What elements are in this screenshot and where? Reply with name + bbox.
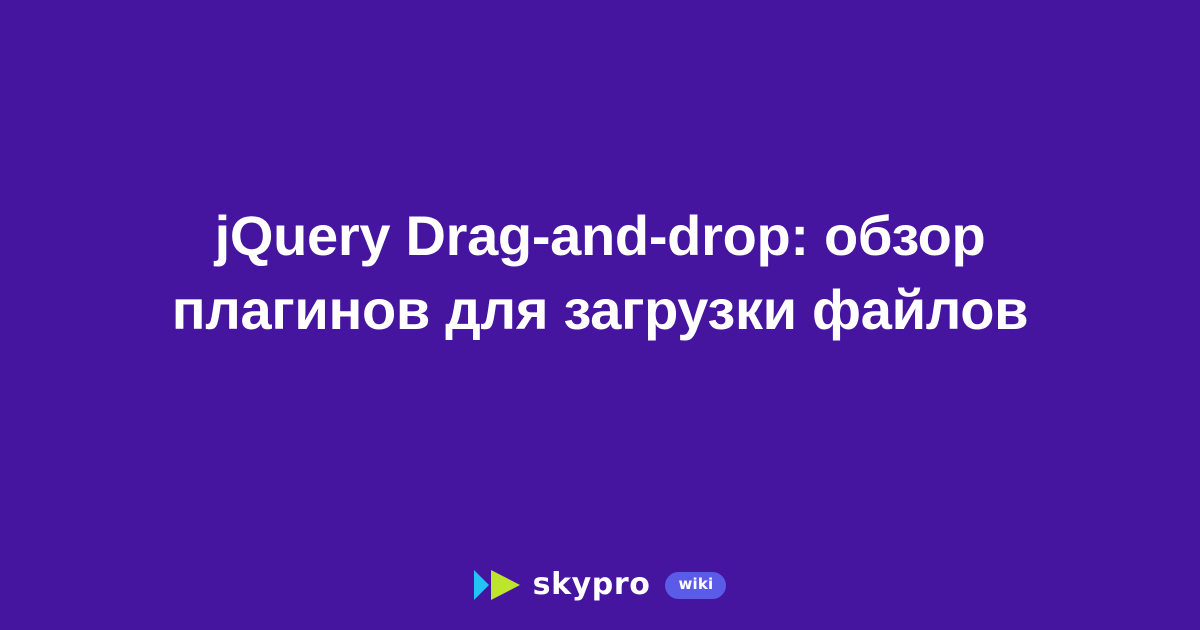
page-title: jQuery Drag-and-drop: обзор плагинов для… <box>135 199 1065 347</box>
title-container: jQuery Drag-and-drop: обзор плагинов для… <box>0 0 1200 545</box>
skypro-wordmark: skypro <box>533 570 651 600</box>
og-image-card: jQuery Drag-and-drop: обзор плагинов для… <box>0 0 1200 630</box>
footer-logo-bar: skypro wiki <box>0 568 1200 602</box>
skypro-double-play-icon <box>474 570 520 600</box>
skypro-wiki-logo: skypro wiki <box>474 568 727 602</box>
wiki-badge: wiki <box>665 572 726 599</box>
